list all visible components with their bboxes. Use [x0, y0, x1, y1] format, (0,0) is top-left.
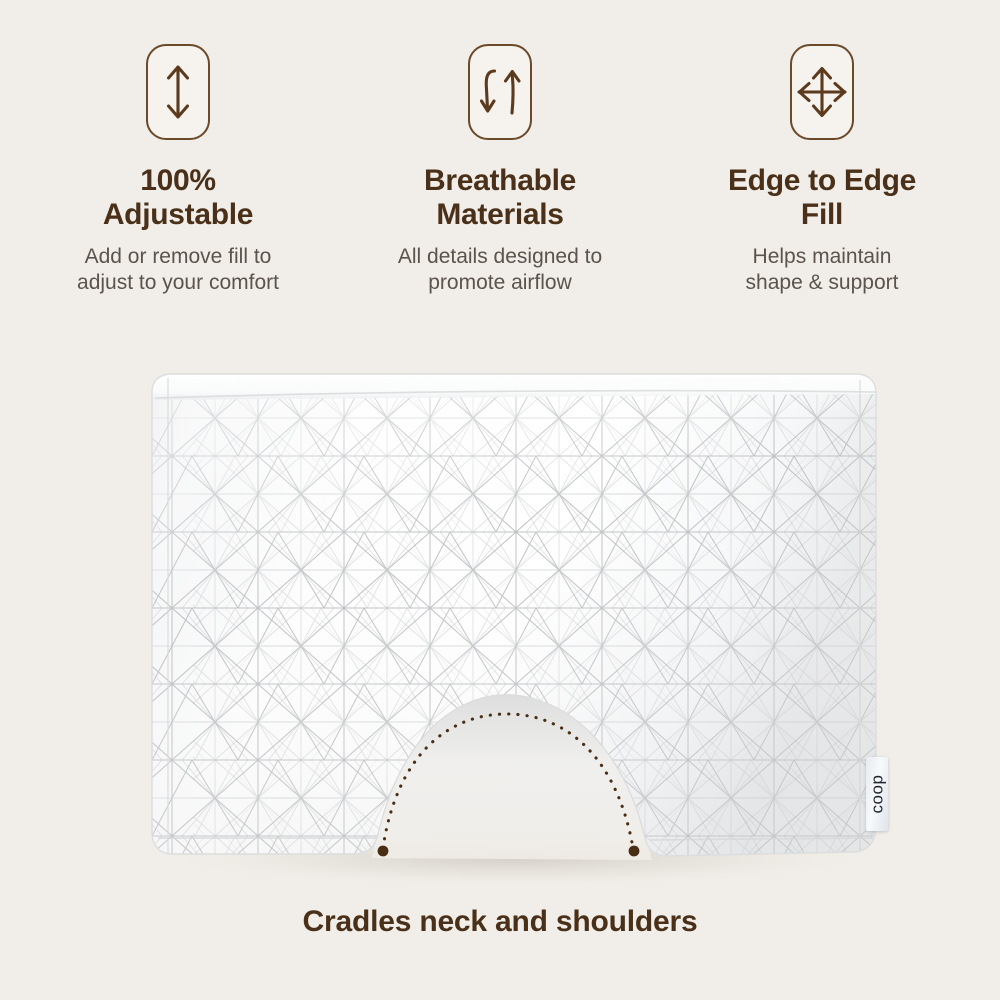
- annotation-endpoint-right: [629, 846, 640, 857]
- infographic-canvas: 100% Adjustable Add or remove fill to ad…: [0, 0, 1000, 1000]
- product-image-pillow: [0, 0, 1000, 1000]
- product-caption: Cradles neck and shoulders: [0, 905, 1000, 939]
- coop-tag-label: coop: [867, 775, 887, 814]
- coop-brand-tag: coop: [866, 757, 888, 831]
- annotation-endpoint-left: [378, 846, 389, 857]
